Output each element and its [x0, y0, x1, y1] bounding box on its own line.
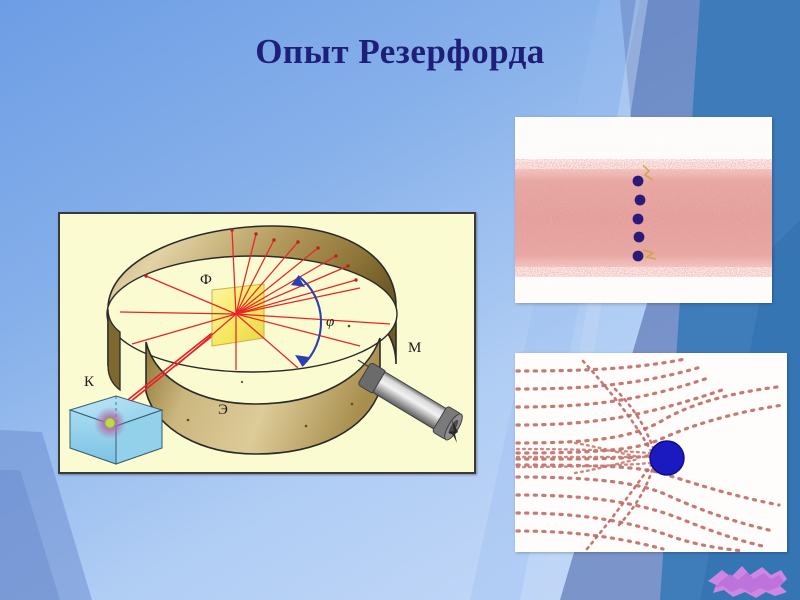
lead-container-source [70, 396, 162, 464]
label-screen: Э [218, 402, 228, 418]
label-angle-phi: φ [326, 314, 334, 330]
label-microscope: М [408, 340, 421, 356]
photo-alpha-tracks-through-foil [515, 117, 772, 303]
photo-alpha-deflection-around-nucleus [515, 353, 787, 552]
label-foil: Ф [200, 272, 212, 288]
label-source: К [84, 374, 95, 390]
rutherford-apparatus-diagram: К Ф φ Э М [58, 212, 476, 474]
page-title: Опыт Резерфорда [0, 32, 800, 72]
nucleus-dot [650, 441, 684, 475]
